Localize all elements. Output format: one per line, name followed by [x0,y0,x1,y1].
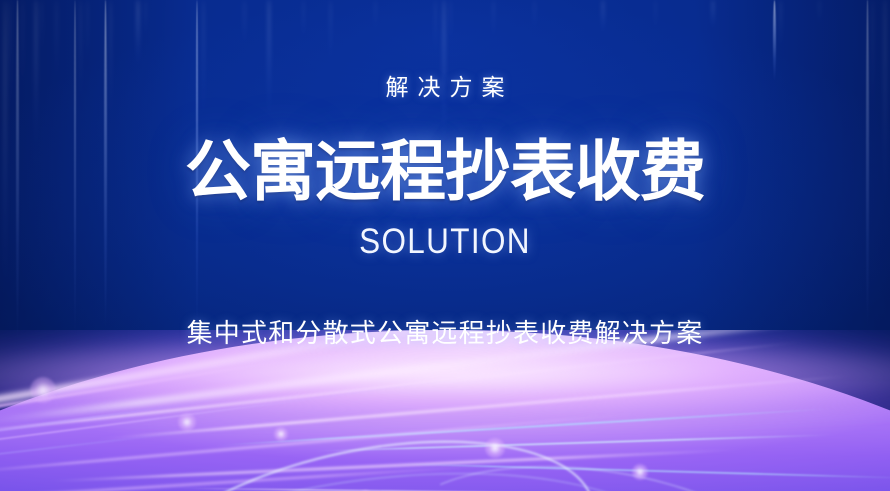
solution-label: SOLUTION [45,224,846,259]
eyebrow-label: 解决方案 [0,76,890,99]
tagline-text: 集中式和分散式公寓远程抄表收费解决方案 [0,318,890,349]
promo-banner: 解决方案 公寓远程抄表收费 SOLUTION 集中式和分散式公寓远程抄表收费解决… [0,0,890,491]
page-title: 公寓远程抄表收费 [0,136,890,207]
text-content: 解决方案 公寓远程抄表收费 SOLUTION 集中式和分散式公寓远程抄表收费解决… [0,0,890,491]
